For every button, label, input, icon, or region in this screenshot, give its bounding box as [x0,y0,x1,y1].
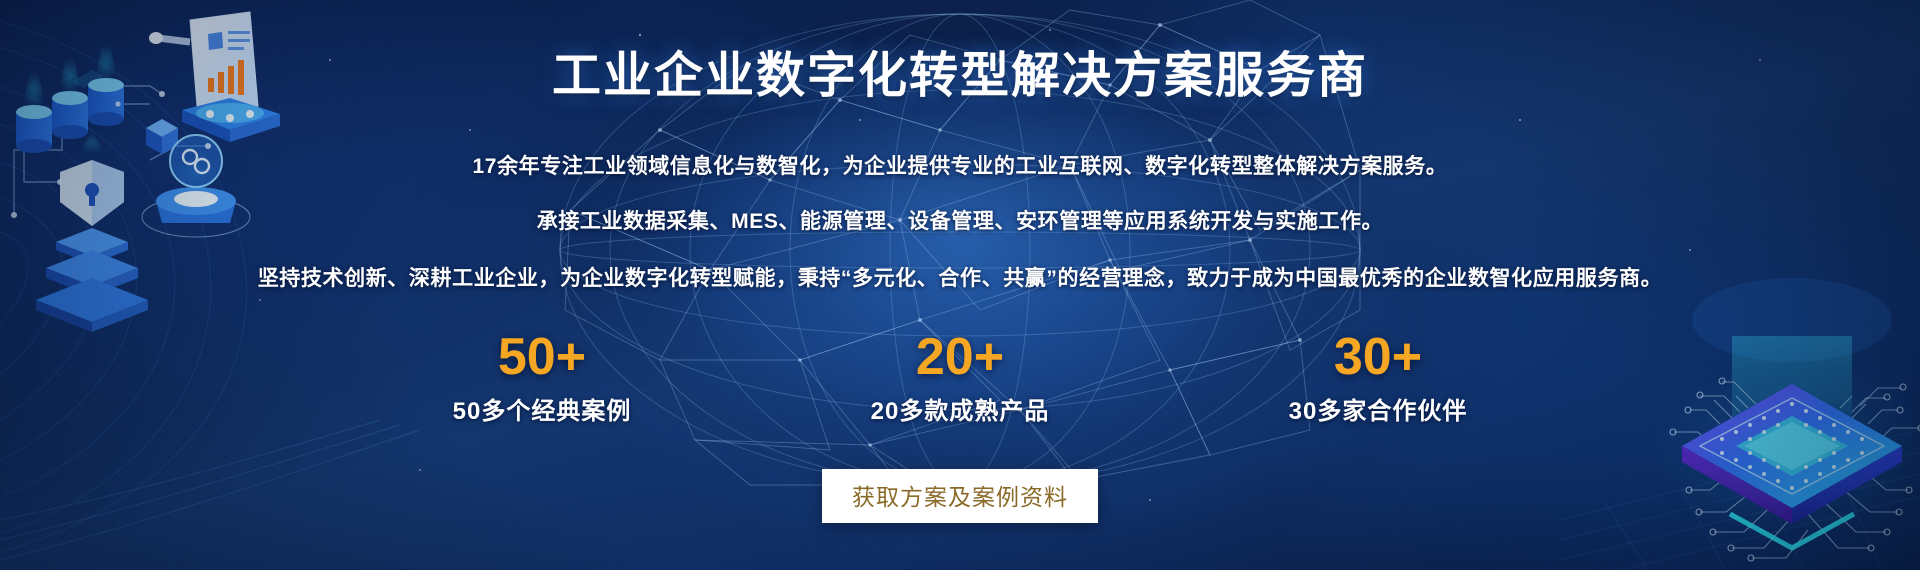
stat-item-products: 20+ 20多款成熟产品 [835,330,1085,426]
subtitle-line-3: 坚持技术创新、深耕工业企业，为企业数字化转型赋能，秉持“多元化、合作、共赢”的经… [0,262,1920,292]
banner-content: 工业企业数字化转型解决方案服务商 17余年专注工业领域信息化与数智化，为企业提供… [0,0,1920,570]
stat-number: 20+ [835,330,1085,385]
stat-number: 30+ [1253,330,1503,385]
stat-item-partners: 30+ 30多家合作伙伴 [1253,330,1503,426]
hero-banner: 工业企业数字化转型解决方案服务商 17余年专注工业领域信息化与数智化，为企业提供… [0,0,1920,570]
stat-number: 50+ [417,330,667,385]
subtitle-line-1: 17余年专注工业领域信息化与数智化，为企业提供专业的工业互联网、数字化转型整体解… [0,150,1920,180]
stat-item-cases: 50+ 50多个经典案例 [417,330,667,426]
stat-label: 20多款成熟产品 [835,391,1085,426]
subtitle-line-2: 承接工业数据采集、MES、能源管理、设备管理、安环管理等应用系统开发与实施工作。 [0,205,1920,235]
page-title: 工业企业数字化转型解决方案服务商 [0,36,1920,107]
stat-label: 30多家合作伙伴 [1253,391,1503,426]
cta-container: 获取方案及案例资料 [0,469,1920,523]
stats-row: 50+ 50多个经典案例 20+ 20多款成熟产品 30+ 30多家合作伙伴 [0,330,1920,426]
get-solution-button[interactable]: 获取方案及案例资料 [822,469,1098,523]
stat-label: 50多个经典案例 [417,391,667,426]
